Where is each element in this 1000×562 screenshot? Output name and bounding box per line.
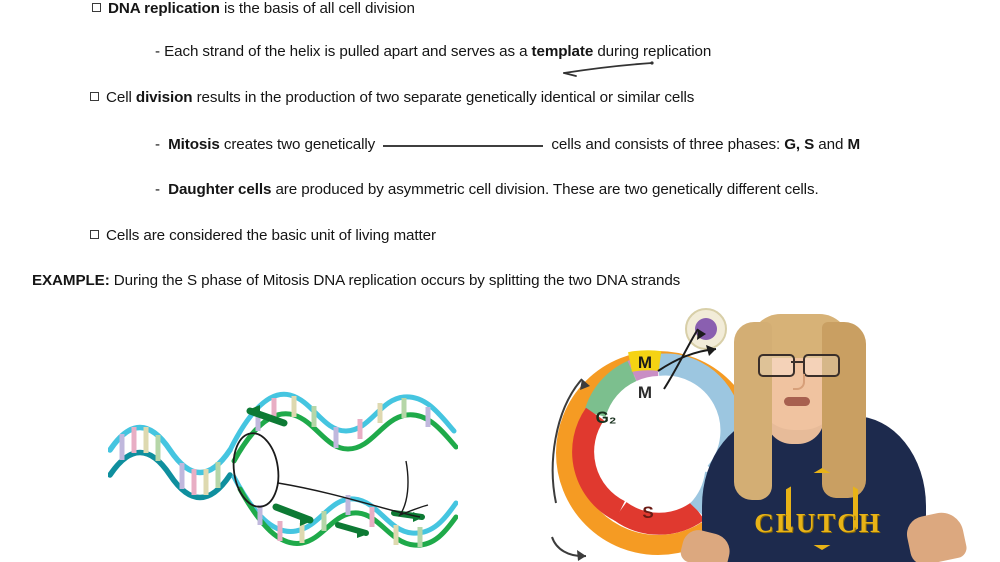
note-line-5-dash: -: [155, 181, 164, 198]
parent-backbone-light: [110, 428, 230, 473]
notes-block: DNA replication is the basis of all cell…: [0, 0, 1000, 305]
note-line-2-bold: template: [532, 43, 594, 60]
example-label: EXAMPLE:: [32, 272, 110, 289]
clutch-logo: CLUTCH: [752, 468, 884, 556]
note-line-1-rest: is the basis of all cell division: [220, 0, 415, 17]
square-bullet-icon: [90, 230, 99, 239]
note-line-4-dash: -: [155, 136, 164, 153]
note-line-1-bold: DNA replication: [108, 0, 220, 17]
glasses-lens-right: [803, 354, 840, 377]
note-line-2-post: during replication: [593, 43, 711, 60]
square-bullet-icon: [92, 3, 101, 12]
note-line-4-and: and: [814, 136, 847, 153]
square-bullet-icon: [90, 92, 99, 101]
clutch-logo-text: CLUTCH: [752, 508, 884, 539]
note-line-4-bold2: G, S: [784, 136, 814, 153]
note-line-dna-replication: DNA replication is the basis of all cell…: [92, 0, 415, 18]
note-line-3-post: results in the production of two separat…: [192, 89, 694, 106]
note-line-5-rest: are produced by asymmetric cell division…: [271, 181, 818, 198]
note-line-3-pre: Cell: [106, 89, 136, 106]
note-line-3-bold: division: [136, 89, 193, 106]
note-line-cell-division: Cell division results in the production …: [90, 89, 694, 107]
glasses-icon: [758, 354, 840, 374]
note-line-daughter-cells: - Daughter cells are produced by asymmet…: [155, 181, 819, 199]
note-line-4-mid: creates two genetically: [220, 136, 380, 153]
note-line-template: - Each strand of the helix is pulled apa…: [155, 43, 711, 61]
lecture-slide: DNA replication is the basis of all cell…: [0, 0, 1000, 562]
upper-new-strand: [234, 414, 456, 461]
arrow-head: [577, 550, 586, 561]
mouth: [784, 397, 810, 406]
note-line-4-after-blank: cells and consists of three phases:: [547, 136, 784, 153]
note-line-example: EXAMPLE: During the S phase of Mitosis D…: [32, 272, 680, 290]
ink-hook-icon: [400, 461, 428, 515]
ink-circle-fork-icon: [229, 430, 283, 509]
glasses-bridge: [791, 361, 803, 363]
dna-replication-diagram: [108, 365, 458, 560]
example-text: During the S phase of Mitosis DNA replic…: [110, 272, 680, 289]
note-line-4-bold: Mitosis: [168, 136, 220, 153]
instructor-video: CLUTCH: [640, 300, 1000, 562]
fill-in-blank-line[interactable]: [383, 134, 543, 147]
note-line-5-bold: Daughter cells: [168, 181, 271, 198]
note-line-4-bold3: M: [847, 136, 860, 153]
note-line-2-pre: - Each strand of the helix is pulled apa…: [155, 43, 532, 60]
parent-base-pairs: [122, 427, 218, 495]
parent-backbone-dark: [110, 453, 230, 498]
ink-underline-arrow-icon: [560, 60, 656, 80]
label-g2: G₂: [596, 408, 617, 427]
note-line-6-text: Cells are considered the basic unit of l…: [106, 227, 436, 244]
note-line-basic-unit: Cells are considered the basic unit of l…: [90, 227, 436, 245]
note-line-mitosis: - Mitosis creates two genetically cells …: [155, 134, 860, 154]
glasses-lens-left: [758, 354, 795, 377]
segment-s-red: [583, 414, 620, 511]
figures-row: M M G₂ S: [0, 300, 1000, 562]
